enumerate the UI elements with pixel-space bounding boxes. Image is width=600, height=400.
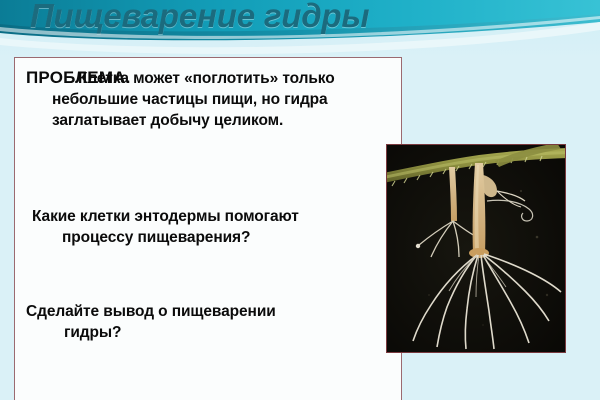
conclusion-line-1: Сделайте вывод о пищеварении xyxy=(26,303,276,320)
hydra-photo-graphic xyxy=(387,145,565,352)
problem-paragraph: ПРОБЛЕМА. Клетка может «поглотить» тольк… xyxy=(26,67,398,131)
hydra-photograph xyxy=(386,144,566,353)
conclusion-paragraph: Сделайте вывод о пищеварении гидры? xyxy=(26,301,398,343)
question-paragraph: Какие клетки энтодермы помогают процессу… xyxy=(32,206,422,248)
conclusion-line-2: гидры? xyxy=(26,322,398,343)
slide: Пищеварение гидры ПРОБЛЕМА. Клетка может… xyxy=(0,0,600,400)
problem-text: Клетка может «поглотить» только небольши… xyxy=(26,68,398,131)
header-banner: Пищеварение гидры xyxy=(0,0,600,58)
question-line-2: процессу пищеварения? xyxy=(32,227,422,248)
page-title: Пищеварение гидры xyxy=(30,0,570,36)
question-line-1: Какие клетки энтодермы помогают xyxy=(32,208,299,225)
content-panel: ПРОБЛЕМА. Клетка может «поглотить» тольк… xyxy=(14,57,402,400)
